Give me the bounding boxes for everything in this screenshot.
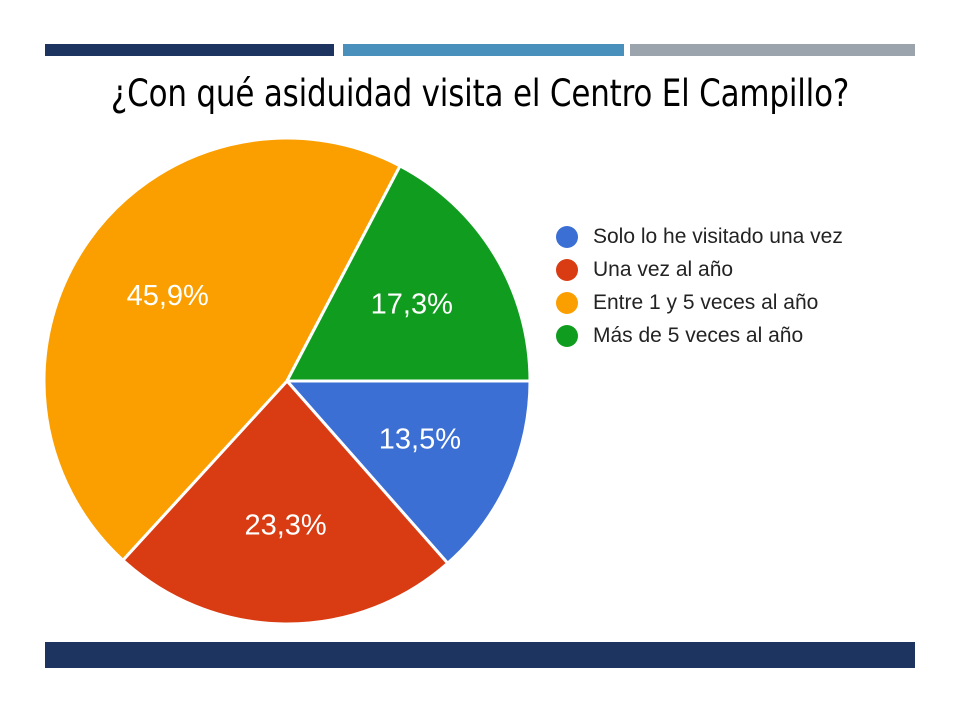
top-rule-navy <box>45 44 334 56</box>
legend-swatch-icon <box>556 259 578 281</box>
legend-swatch-icon <box>556 292 578 314</box>
bottom-rule <box>45 642 915 668</box>
legend-swatch-icon <box>556 226 578 248</box>
pie-chart: 13,5%23,3%45,9%17,3% Solo lo he visitado… <box>0 120 960 640</box>
legend-item-label: Una vez al año <box>593 258 733 282</box>
legend-item[interactable]: Solo lo he visitado una vez <box>556 220 946 253</box>
pie-slice-label: 17,3% <box>371 288 453 320</box>
pie-svg: 13,5%23,3%45,9%17,3% <box>44 138 530 624</box>
page-title: ¿Con qué asiduidad visita el Centro El C… <box>62 70 899 118</box>
pie-slice-group <box>44 138 530 624</box>
top-rule-blue <box>343 44 624 56</box>
legend-item-label: Solo lo he visitado una vez <box>593 225 843 249</box>
top-rule-gray <box>630 44 915 56</box>
legend-item[interactable]: Entre 1 y 5 veces al año <box>556 286 946 319</box>
legend-swatch-icon <box>556 325 578 347</box>
legend-item[interactable]: Más de 5 veces al año <box>556 319 946 352</box>
legend-item[interactable]: Una vez al año <box>556 253 946 286</box>
pie-slice-label: 23,3% <box>244 509 326 541</box>
slide-canvas: ¿Con qué asiduidad visita el Centro El C… <box>0 0 960 720</box>
chart-legend: Solo lo he visitado una vezUna vez al añ… <box>556 220 946 352</box>
pie-graphic: 13,5%23,3%45,9%17,3% <box>44 138 530 624</box>
pie-slice-label: 45,9% <box>127 280 209 312</box>
pie-slice-label: 13,5% <box>379 424 461 456</box>
legend-item-label: Entre 1 y 5 veces al año <box>593 291 818 315</box>
legend-item-label: Más de 5 veces al año <box>593 324 803 348</box>
